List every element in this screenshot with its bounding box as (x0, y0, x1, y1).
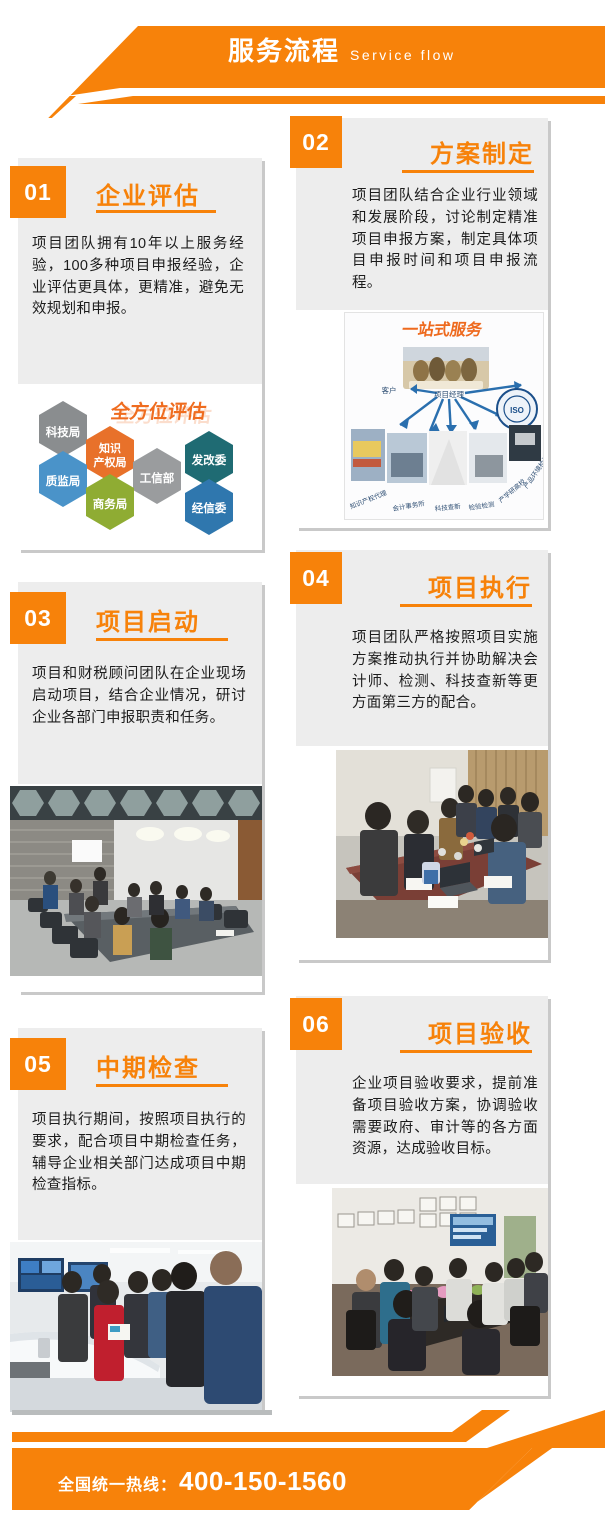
service-card-03[interactable]: 03 项目启动 项目和财税顾问团队在企业现场启动项目，结合企业情况，研讨企业各部… (18, 582, 262, 992)
page-header: 服务流程 Service flow (0, 0, 605, 118)
service-card-05[interactable]: 05 中期检查 项目执行期间，按照项目执行的要求，配合项目中期检查任务，辅导企业… (18, 1028, 262, 1410)
service-card-01[interactable]: 01 企业评估 项目团队拥有10年以上服务经验，100多种项目申报经验，企业评估… (18, 158, 262, 550)
header-banner-shape (0, 0, 605, 118)
card-description: 项目团队拥有10年以上服务经验，100多种项目申报经验，企业评估更具体，更精准，… (32, 234, 244, 321)
svg-text:ISO: ISO (510, 406, 524, 415)
figure-hexagon-diagram: 科技局 知识 产权局 发改委 质监局 (20, 386, 260, 546)
svg-text:经信委: 经信委 (192, 501, 227, 515)
card-title: 中期检查 (96, 1048, 200, 1083)
figure-heading: 一站式服务 (400, 320, 484, 339)
card-title-rule (96, 1084, 228, 1087)
figure-photo-03 (10, 786, 262, 976)
photo-project-execution-meeting (336, 750, 548, 938)
svg-text:一站式服务: 一站式服务 (400, 320, 484, 339)
card-title-rule (400, 1050, 532, 1053)
svg-text:工信部: 工信部 (140, 471, 175, 485)
card-title: 项目启动 (96, 602, 200, 637)
card-title-rule (400, 604, 532, 607)
service-card-02[interactable]: 02 方案制定 项目团队结合企业行业领域和发展阶段，讨论制定精准项目申报方案，制… (296, 118, 548, 528)
figure-photo-06 (332, 1188, 548, 1376)
card-number-badge: 03 (10, 592, 66, 644)
label-client: 客户 (382, 385, 397, 395)
card-number-badge: 04 (290, 552, 342, 604)
svg-text:质监局: 质监局 (46, 474, 81, 488)
service-flow-grid: 01 企业评估 项目团队拥有10年以上服务经验，100多种项目申报经验，企业评估… (0, 110, 605, 1410)
card-number-badge: 02 (290, 116, 342, 168)
page-footer: 全国统一热线： 400-150-1560 (0, 1410, 605, 1538)
photo-project-acceptance-meeting (332, 1188, 548, 1376)
svg-text:全方位评估: 全方位评估 (108, 400, 207, 423)
svg-text:商务局: 商务局 (93, 497, 128, 511)
card-number-badge: 01 (10, 166, 66, 218)
photo-meeting-room-launch (10, 786, 262, 976)
card-title: 项目执行 (428, 568, 532, 603)
center-meeting-photo (403, 347, 489, 389)
label-center: 项目经理 (434, 389, 464, 399)
card-title: 方案制定 (430, 134, 534, 169)
svg-text:产权局: 产权局 (94, 455, 127, 469)
figure-photo-05 (10, 1242, 262, 1412)
card-description: 项目执行期间，按照项目执行的要求，配合项目中期检查任务，辅导企业相关部门达成项目… (32, 1110, 246, 1197)
svg-text:知识: 知识 (98, 441, 121, 455)
service-card-04[interactable]: 04 项目执行 项目团队严格按照项目实施方案推动执行并协助解决会计师、检测、科技… (296, 550, 548, 960)
figure-photo-04 (336, 750, 548, 938)
card-description: 企业项目验收要求，提前准备项目验收方案，协调验收需要政府、审计等的各方面资源，达… (352, 1074, 538, 1161)
figure-one-stop-diagram: 一站式服务 (344, 312, 544, 520)
card-description: 项目团队严格按照项目实施方案推动执行并协助解决会计师、检测、科技查新等更方面第三… (352, 628, 538, 715)
card-title: 企业评估 (96, 176, 200, 211)
card-title: 项目验收 (428, 1014, 532, 1049)
photo-site-visit-briefing (10, 1242, 262, 1412)
card-title-rule (402, 170, 534, 173)
iso-badge: ISO (497, 389, 537, 429)
card-number-badge: 05 (10, 1038, 66, 1090)
service-card-06[interactable]: 06 项目验收 企业项目验收要求，提前准备项目验收方案，协调验收需要政府、审计等… (296, 996, 548, 1396)
card-description: 项目和财税顾问团队在企业现场启动项目，结合企业情况，研讨企业各部门申报职责和任务… (32, 664, 246, 729)
card-number-badge: 06 (290, 998, 342, 1050)
card-title-rule (96, 210, 216, 213)
svg-text:发改委: 发改委 (191, 453, 227, 467)
footer-banner-shape (0, 1410, 605, 1538)
svg-text:科技局: 科技局 (46, 425, 81, 439)
card-title-rule (96, 638, 228, 641)
card-description: 项目团队结合企业行业领域和发展阶段，讨论制定精准项目申报方案，制定具体项目申报时… (352, 186, 538, 295)
figure-heading: 全方位评估 全方位评估 (108, 400, 213, 427)
